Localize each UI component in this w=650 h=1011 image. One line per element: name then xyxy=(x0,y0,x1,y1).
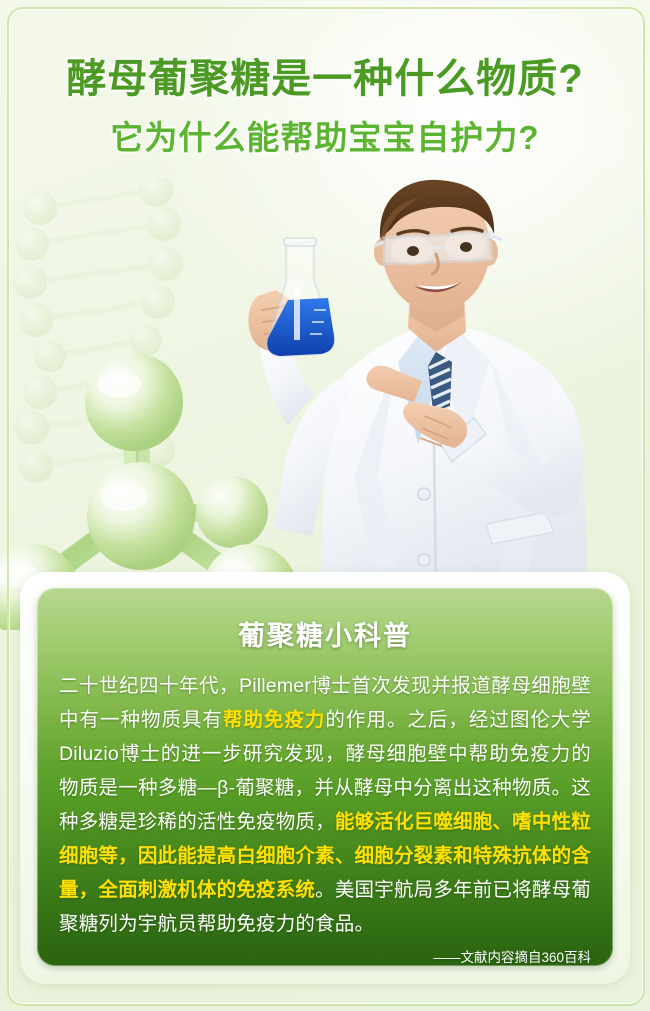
body-highlight-run: 帮助免疫力 xyxy=(223,709,325,731)
glucan-info-card: 葡聚糖小科普 二十世纪四十年代，Pillemer博士首次发现并报道酵母细胞壁中有… xyxy=(37,588,613,966)
page-subtitle: 它为什么能帮助宝宝自护力? xyxy=(0,111,650,159)
card-body-text: 二十世纪四十年代，Pillemer博士首次发现并报道酵母细胞壁中有一种物质具有帮… xyxy=(59,669,591,941)
promo-page: 酵母葡聚糖是一种什么物质? 它为什么能帮助宝宝自护力? 葡聚糖小科普 二十世纪四… xyxy=(0,0,650,1011)
scientist-with-flask xyxy=(228,176,638,596)
card-footer: ——文献内容摘自360百科 以上内容为科普知识，不代表产品功效，请消费者理性阅读 xyxy=(59,947,591,966)
card-title: 葡聚糖小科普 xyxy=(37,614,613,653)
source-note: ——文献内容摘自360百科 xyxy=(59,947,591,966)
headline-block: 酵母葡聚糖是一种什么物质? 它为什么能帮助宝宝自护力? xyxy=(0,56,650,159)
page-title: 酵母葡聚糖是一种什么物质? xyxy=(0,56,650,103)
dna-helix-watermark xyxy=(6,178,206,508)
